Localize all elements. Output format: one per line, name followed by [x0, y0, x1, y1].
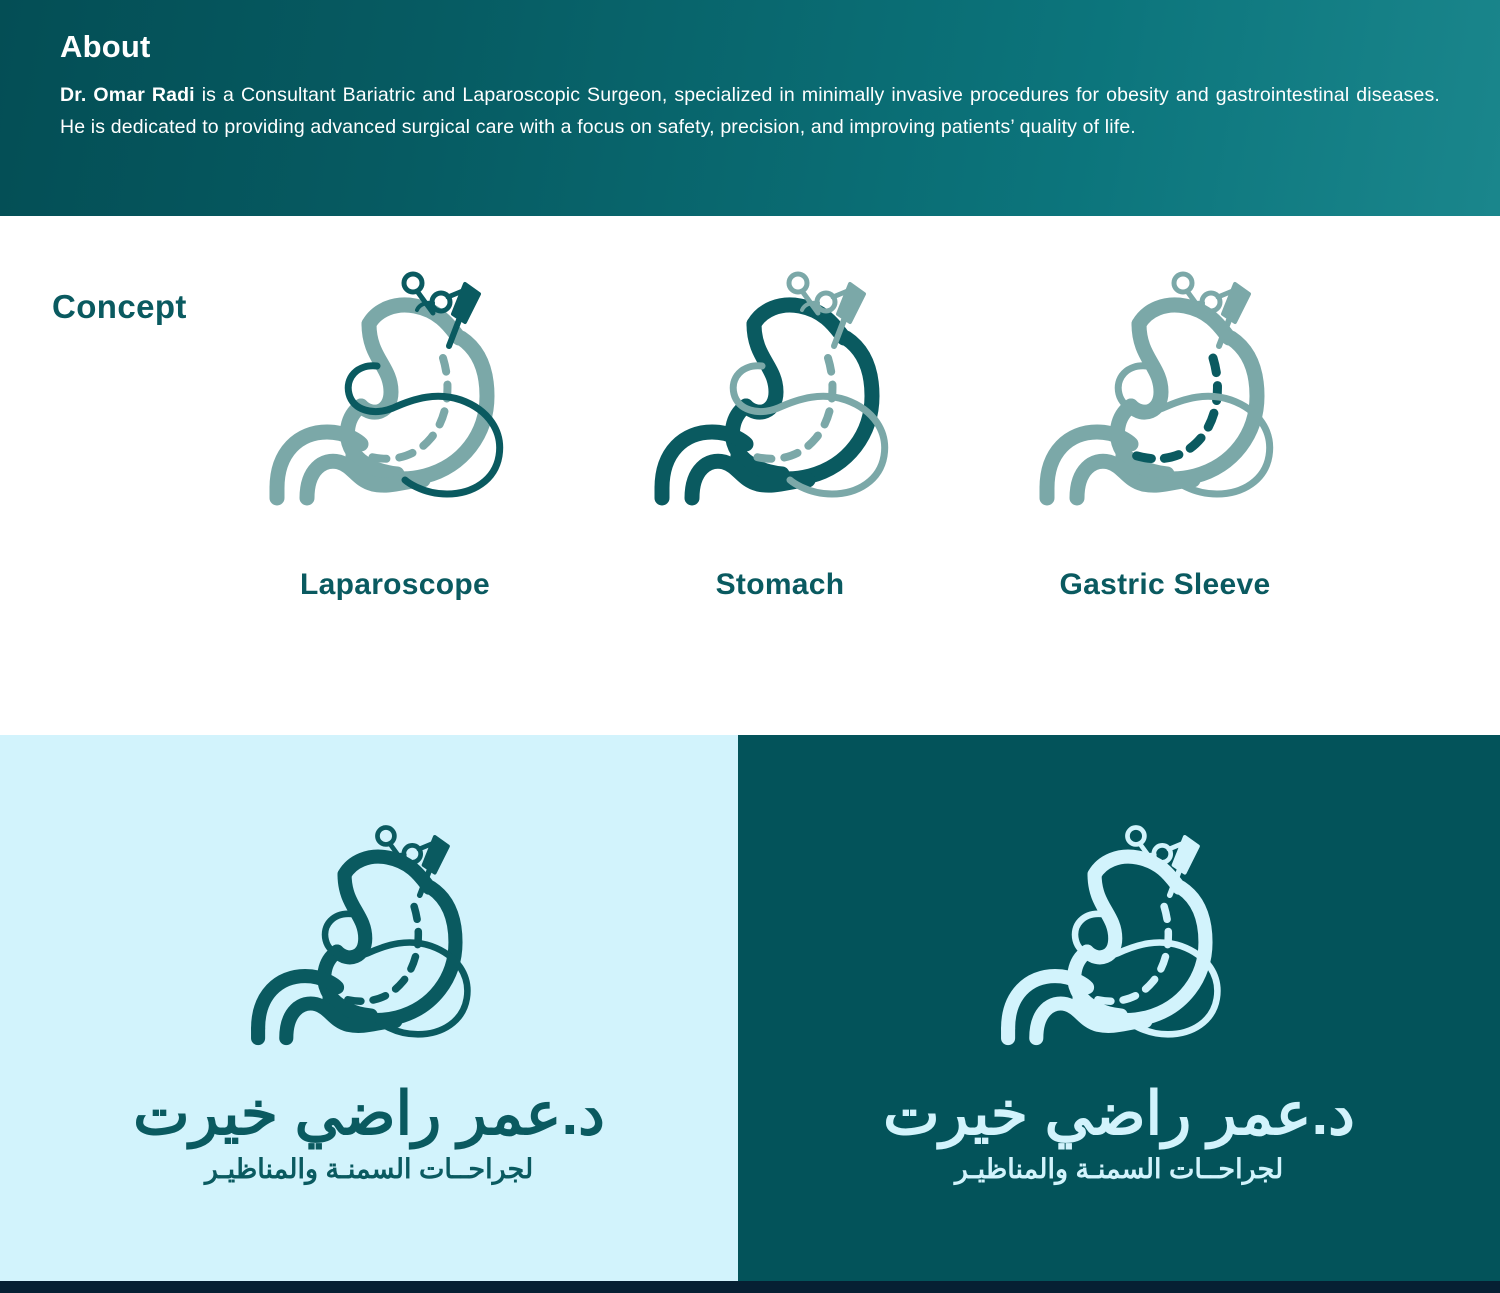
logo-panel-dark: د.عمر راضي خيرت لجراحــات السمنـة والمنا… [738, 735, 1500, 1281]
concept-heading: Concept [52, 288, 187, 326]
brand-tagline-dark: لجراحــات السمنـة والمناظيـر [955, 1153, 1283, 1185]
about-section: About Dr. Omar Radi is a Consultant Bari… [0, 0, 1500, 216]
concept-items-row: Laparoscope [230, 266, 1330, 602]
about-paragraph: Dr. Omar Radi is a Consultant Bariatric … [60, 80, 1440, 143]
concept-label-laparoscope: Laparoscope [300, 568, 490, 602]
stomach-laparoscope-icon [265, 266, 525, 516]
stomach-body-icon [650, 266, 910, 516]
brand-logo-mark-light-on-dark [983, 820, 1255, 1055]
about-body-text: is a Consultant Bariatric and Laparoscop… [60, 84, 1440, 138]
brand-name-dark: د.عمر راضي خيرت [883, 1081, 1355, 1147]
concept-item-laparoscope: Laparoscope [230, 266, 560, 602]
brand-tagline-light: لجراحــات السمنـة والمناظيـر [205, 1153, 533, 1185]
concept-item-gastric-sleeve: Gastric Sleeve [1000, 266, 1330, 602]
about-lead-name: Dr. Omar Radi [60, 84, 195, 106]
brand-name-light: د.عمر راضي خيرت [133, 1081, 605, 1147]
concept-label-stomach: Stomach [716, 568, 845, 602]
bottom-edge-strip [0, 1281, 1500, 1293]
logo-panels: د.عمر راضي خيرت لجراحــات السمنـة والمنا… [0, 735, 1500, 1281]
logo-presentation-page: About Dr. Omar Radi is a Consultant Bari… [0, 0, 1500, 1293]
logo-panel-light: د.عمر راضي خيرت لجراحــات السمنـة والمنا… [0, 735, 738, 1281]
concept-label-gastric-sleeve: Gastric Sleeve [1059, 568, 1270, 602]
concept-item-stomach: Stomach [615, 266, 945, 602]
brand-logo-mark-dark-on-light [233, 820, 505, 1055]
about-title: About [60, 30, 1440, 64]
gastric-sleeve-icon [1035, 266, 1295, 516]
concept-section: Concept [0, 216, 1500, 735]
